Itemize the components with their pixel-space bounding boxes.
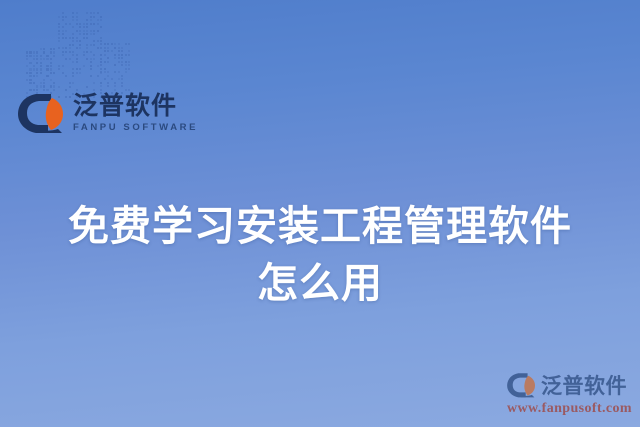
skyline-dot-pattern (0, 0, 200, 100)
brand-name-en: FANPU SOFTWARE (73, 123, 198, 133)
watermark-url: www.fanpusoft.com (507, 401, 632, 417)
headline: 免费学习安装工程管理软件 怎么用 (0, 198, 640, 312)
watermark: 泛普软件 www.fanpusoft.com (507, 370, 632, 417)
watermark-logo-row: 泛普软件 (507, 370, 632, 400)
headline-line-2: 怎么用 (0, 255, 640, 312)
promo-banner: 泛普软件 FANPU SOFTWARE 免费学习安装工程管理软件 怎么用 泛普软… (0, 0, 640, 427)
headline-line-1: 免费学习安装工程管理软件 (0, 198, 640, 255)
brand-logo: 泛普软件 FANPU SOFTWARE (18, 92, 198, 134)
watermark-brand-name: 泛普软件 (541, 370, 627, 400)
fanpu-swoosh-icon (18, 92, 66, 134)
fanpu-swoosh-icon (507, 372, 537, 398)
brand-wordmark: 泛普软件 FANPU SOFTWARE (73, 93, 198, 133)
brand-name-cn: 泛普软件 (73, 93, 198, 118)
skyline-tower-middle (58, 12, 104, 100)
